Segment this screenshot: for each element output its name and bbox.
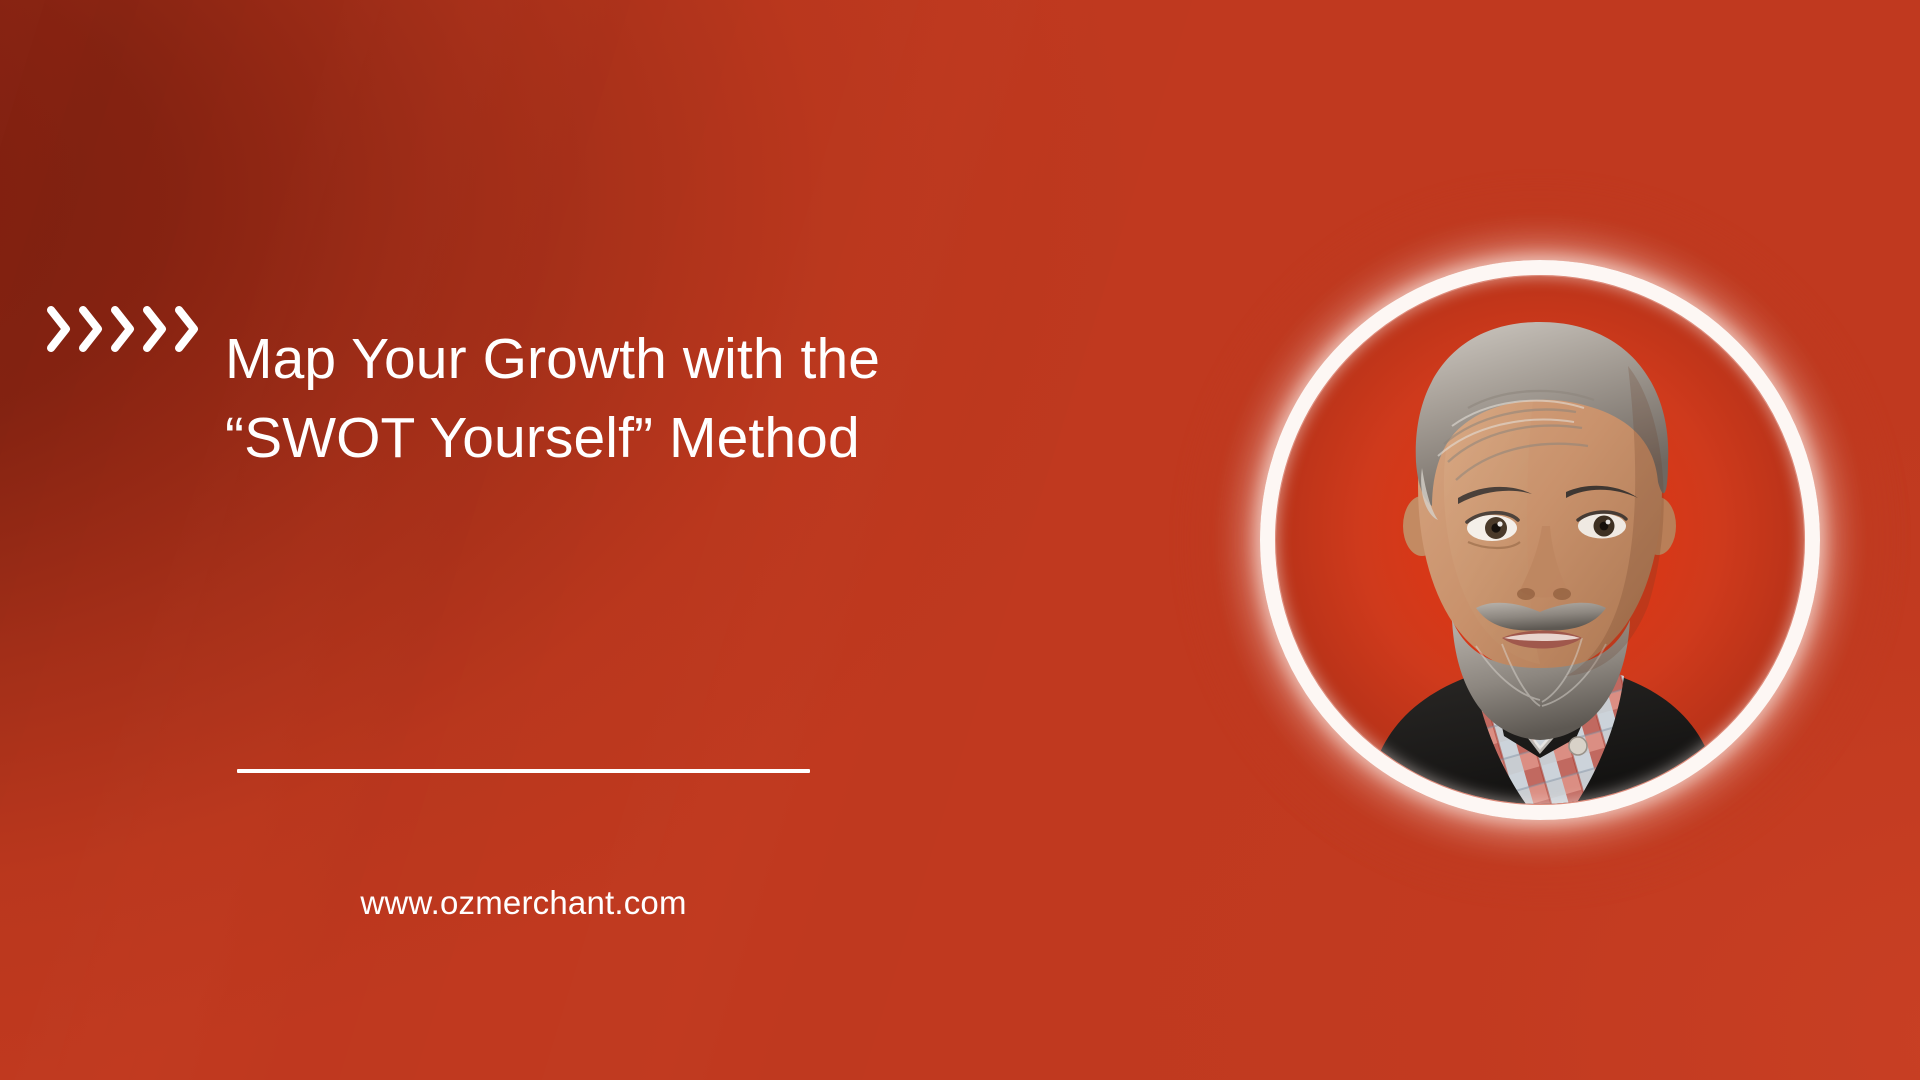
chevron-right-icon	[174, 305, 200, 353]
portrait-zone	[1180, 180, 1900, 900]
headline-line-1: Map Your Growth with the	[225, 320, 880, 399]
headline-line-2: “SWOT Yourself” Method	[225, 399, 880, 478]
portrait-ring	[1260, 260, 1820, 820]
headline-row: Map Your Growth with the “SWOT Yourself”…	[46, 282, 880, 516]
page-title: Map Your Growth with the “SWOT Yourself”…	[225, 320, 880, 477]
chevron-right-icon	[46, 305, 72, 353]
promo-slide: Map Your Growth with the “SWOT Yourself”…	[0, 0, 1920, 1080]
website-url[interactable]: www.ozmerchant.com	[237, 884, 810, 922]
divider	[237, 769, 810, 773]
chevron-right-icon	[78, 305, 104, 353]
text-column: Map Your Growth with the “SWOT Yourself”…	[0, 0, 1000, 1080]
chevron-right-icon	[110, 305, 136, 353]
chevron-group	[46, 305, 200, 353]
chevron-right-icon	[142, 305, 168, 353]
